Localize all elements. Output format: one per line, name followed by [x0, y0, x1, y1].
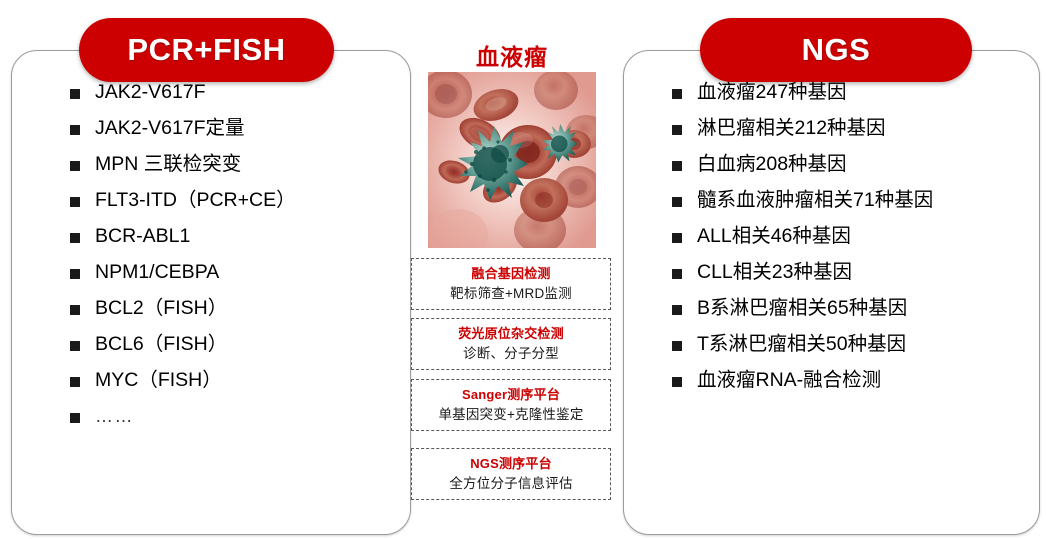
list-item-label: CLL相关23种基因	[697, 263, 1032, 283]
list-item-label: JAK2-V617F定量	[95, 119, 400, 139]
platform-card-subtitle: 诊断、分子分型	[463, 344, 559, 364]
list-item-label: B系淋巴瘤相关65种基因	[697, 299, 1032, 319]
square-bullet-icon	[672, 197, 682, 207]
list-item-label: T系淋巴瘤相关50种基因	[697, 335, 1032, 355]
platform-card-title: 融合基因检测	[471, 264, 550, 284]
platform-card-subtitle: 靶标筛查+MRD监测	[450, 284, 572, 304]
platform-card-sanger[interactable]: Sanger测序平台 单基因突变+克隆性鉴定	[411, 379, 611, 431]
list-item[interactable]: MYC（FISH）	[70, 371, 400, 391]
platform-card-title: 荧光原位杂交检测	[458, 324, 564, 344]
list-item[interactable]: BCR-ABL1	[70, 227, 400, 247]
square-bullet-icon	[70, 197, 80, 207]
square-bullet-icon	[672, 377, 682, 387]
square-bullet-icon	[70, 377, 80, 387]
platform-card-title: Sanger测序平台	[462, 385, 560, 405]
pcr-fish-item-list: JAK2-V617F JAK2-V617F定量 MPN 三联检突变 FLT3-I…	[70, 83, 400, 442]
list-item[interactable]: T系淋巴瘤相关50种基因	[672, 335, 1032, 355]
list-item-label: BCR-ABL1	[95, 227, 400, 247]
square-bullet-icon	[672, 305, 682, 315]
list-item-label: NPM1/CEBPA	[95, 263, 400, 283]
list-item-label: MPN 三联检突变	[95, 155, 400, 175]
list-item[interactable]: BCL2（FISH）	[70, 299, 400, 319]
list-item-label: ……	[95, 407, 400, 425]
square-bullet-icon	[672, 269, 682, 279]
list-item[interactable]: ALL相关46种基因	[672, 227, 1032, 247]
list-item[interactable]: CLL相关23种基因	[672, 263, 1032, 283]
platform-card-subtitle: 单基因突变+克隆性鉴定	[438, 405, 583, 425]
pcr-fish-header-pill[interactable]: PCR+FISH	[79, 18, 334, 82]
list-item-label: 血液瘤247种基因	[697, 83, 1032, 103]
list-item[interactable]: BCL6（FISH）	[70, 335, 400, 355]
list-item[interactable]: NPM1/CEBPA	[70, 263, 400, 283]
list-item[interactable]: JAK2-V617F	[70, 83, 400, 103]
list-item-label: JAK2-V617F	[95, 83, 400, 103]
square-bullet-icon	[672, 125, 682, 135]
platform-card-fish[interactable]: 荧光原位杂交检测 诊断、分子分型	[411, 318, 611, 370]
platform-card-fusion-gene[interactable]: 融合基因检测 靶标筛查+MRD监测	[411, 258, 611, 310]
ngs-header-pill[interactable]: NGS	[700, 18, 972, 82]
list-item-label: 血液瘤RNA-融合检测	[697, 371, 1032, 391]
list-item[interactable]: 白血病208种基因	[672, 155, 1032, 175]
square-bullet-icon	[672, 341, 682, 351]
list-item-label: 淋巴瘤相关212种基因	[697, 119, 1032, 139]
square-bullet-icon	[672, 89, 682, 99]
platform-card-title: NGS测序平台	[470, 454, 552, 474]
list-item[interactable]: FLT3-ITD（PCR+CE）	[70, 191, 400, 211]
ngs-item-list: 血液瘤247种基因 淋巴瘤相关212种基因 白血病208种基因 髓系血液肿瘤相关…	[672, 83, 1032, 407]
slide-canvas: PCR+FISH JAK2-V617F JAK2-V617F定量 MPN 三联检…	[0, 0, 1046, 539]
square-bullet-icon	[70, 413, 80, 423]
list-item-label: MYC（FISH）	[95, 371, 400, 391]
list-item-label: BCL6（FISH）	[95, 335, 400, 355]
list-item-label: FLT3-ITD（PCR+CE）	[95, 191, 400, 211]
list-item-label: 髓系血液肿瘤相关71种基因	[697, 191, 1032, 211]
square-bullet-icon	[70, 161, 80, 171]
square-bullet-icon	[70, 125, 80, 135]
list-item[interactable]: ……	[70, 407, 400, 425]
platform-card-ngs[interactable]: NGS测序平台 全方位分子信息评估	[411, 448, 611, 500]
center-title: 血液瘤	[412, 38, 612, 72]
list-item[interactable]: MPN 三联检突变	[70, 155, 400, 175]
blood-cells-illustration	[428, 72, 596, 248]
list-item-label: 白血病208种基因	[697, 155, 1032, 175]
list-item[interactable]: B系淋巴瘤相关65种基因	[672, 299, 1032, 319]
list-item[interactable]: 髓系血液肿瘤相关71种基因	[672, 191, 1032, 211]
square-bullet-icon	[70, 89, 80, 99]
square-bullet-icon	[672, 161, 682, 171]
list-item[interactable]: JAK2-V617F定量	[70, 119, 400, 139]
square-bullet-icon	[70, 341, 80, 351]
list-item[interactable]: 淋巴瘤相关212种基因	[672, 119, 1032, 139]
list-item-label: ALL相关46种基因	[697, 227, 1032, 247]
list-item-label: BCL2（FISH）	[95, 299, 400, 319]
square-bullet-icon	[70, 305, 80, 315]
list-item[interactable]: 血液瘤247种基因	[672, 83, 1032, 103]
platform-card-subtitle: 全方位分子信息评估	[449, 474, 572, 494]
square-bullet-icon	[70, 233, 80, 243]
square-bullet-icon	[70, 269, 80, 279]
list-item[interactable]: 血液瘤RNA-融合检测	[672, 371, 1032, 391]
square-bullet-icon	[672, 233, 682, 243]
